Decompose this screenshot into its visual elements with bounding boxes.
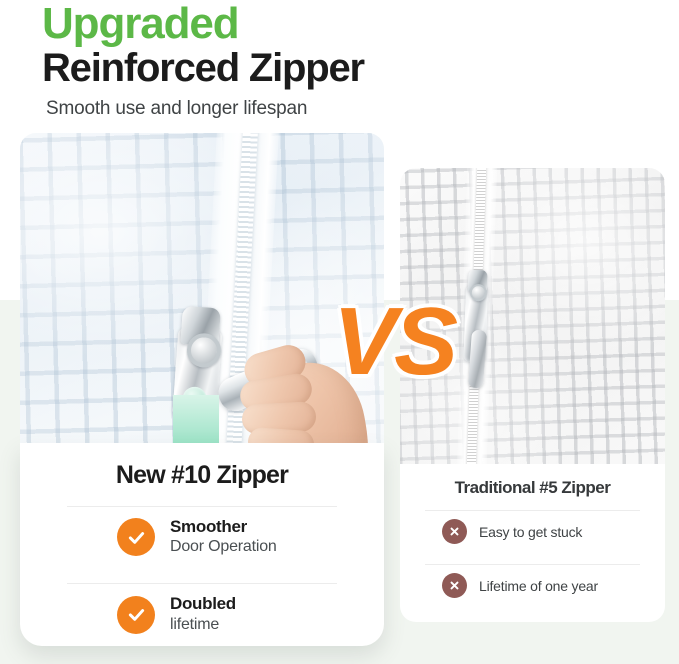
feature-text: Easy to get stuck <box>479 524 582 540</box>
feature-detail: lifetime <box>170 615 236 635</box>
feature-text: Smoother Door Operation <box>170 517 277 557</box>
feature-row: Easy to get stuck <box>400 511 665 552</box>
feature-text: Lifetime of one year <box>479 578 598 594</box>
cross-circle-icon <box>442 573 467 598</box>
feature-title: Doubled <box>170 594 236 614</box>
headline-eyebrow: Upgraded <box>42 2 642 47</box>
feature-row: Doubled lifetime <box>20 584 384 644</box>
versus-badge: VS <box>333 294 455 390</box>
page-title: Reinforced Zipper <box>42 47 642 90</box>
check-circle-icon <box>117 596 155 634</box>
new-zipper-photo <box>20 133 384 463</box>
cross-circle-icon <box>442 519 467 544</box>
headline-block: Upgraded Reinforced Zipper Smooth use an… <box>42 2 642 120</box>
feature-detail: Door Operation <box>170 537 277 557</box>
check-circle-icon <box>117 518 155 556</box>
traditional-zipper-card: Traditional #5 Zipper Easy to get stuck … <box>400 464 665 622</box>
traditional-zipper-card-title: Traditional #5 Zipper <box>400 464 665 498</box>
page-subtitle: Smooth use and longer lifespan <box>46 98 642 120</box>
feature-text: Doubled lifetime <box>170 594 236 634</box>
new-zipper-card-title: New #10 Zipper <box>20 443 384 490</box>
feature-row: Lifetime of one year <box>400 565 665 606</box>
feature-title: Smoother <box>170 517 277 537</box>
infographic-page: Upgraded Reinforced Zipper Smooth use an… <box>0 0 679 664</box>
feature-row: Smoother Door Operation <box>20 507 384 567</box>
new-zipper-card: New #10 Zipper Smoother Door Operation D <box>20 443 384 646</box>
